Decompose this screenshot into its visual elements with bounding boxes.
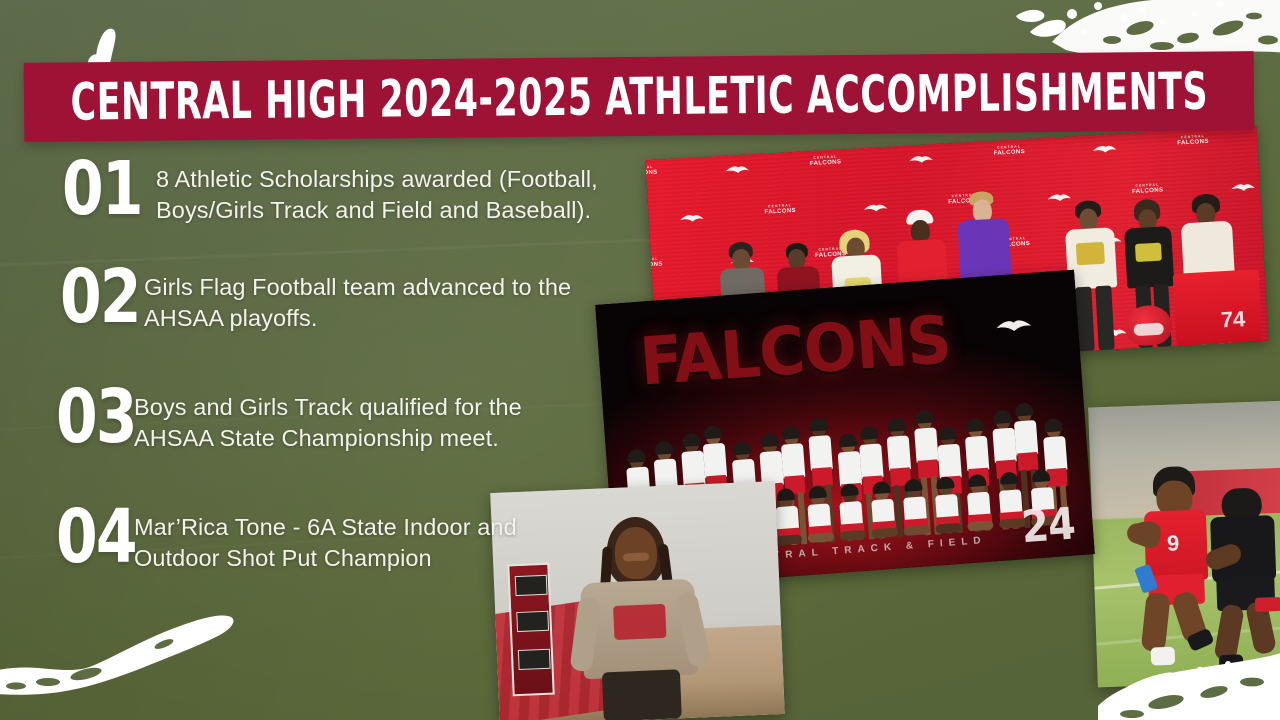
track-photo-year: 24 xyxy=(1020,499,1077,554)
team-member xyxy=(803,488,835,548)
list-item: 04 Mar’Rica Tone - 6A State Indoor and O… xyxy=(56,506,626,575)
page-title: CENTRAL HIGH 2024-2025 ATHLETIC ACCOMPLI… xyxy=(70,65,1208,127)
team-member xyxy=(835,486,867,546)
falcon-head-icon xyxy=(678,211,705,225)
backdrop-wordmark: CENTRALFALCONS xyxy=(764,204,796,217)
portrait-scoreboard xyxy=(507,563,554,697)
list-item: 03 Boys and Girls Track qualified for th… xyxy=(56,386,616,455)
falcon-head-icon xyxy=(1091,142,1118,156)
list-item-text: Mar’Rica Tone - 6A State Indoor and Outd… xyxy=(134,506,578,575)
jersey-number: 9 xyxy=(1167,530,1180,556)
backdrop-wordmark: CENTRALFALCONS xyxy=(645,257,663,270)
list-item-number: 03 xyxy=(56,386,142,450)
backdrop-wordmark: CENTRALFALCONS xyxy=(1132,183,1164,196)
backdrop-wordmark: CENTRALFALCONS xyxy=(645,166,657,179)
falcon-head-icon xyxy=(908,152,935,166)
title-banner: CENTRAL HIGH 2024-2025 ATHLETIC ACCOMPLI… xyxy=(24,51,1255,142)
list-item: 02 Girls Flag Football team advanced to … xyxy=(60,266,620,335)
list-item-number: 04 xyxy=(56,506,142,570)
falcon-head-icon xyxy=(862,201,889,215)
list-item-text: Boys and Girls Track qualified for the A… xyxy=(134,386,554,455)
backdrop-wordmark: CENTRALFALCONS xyxy=(993,145,1025,158)
backdrop-wordmark: CENTRALFALCONS xyxy=(810,155,842,168)
brush-stroke-bottom-left xyxy=(0,596,256,716)
falcon-head-icon xyxy=(1230,180,1257,194)
team-member xyxy=(899,481,931,541)
team-member xyxy=(931,479,963,539)
team-member xyxy=(867,483,899,543)
list-item-number: 02 xyxy=(60,266,146,330)
team-member xyxy=(963,476,995,536)
falcon-head-icon xyxy=(724,162,751,176)
slide-canvas: CENTRALFALCONSCENTRALFALCONSCENTRALFALCO… xyxy=(0,0,1280,720)
list-item-number: 01 xyxy=(62,158,148,222)
backdrop-wordmark: CENTRALFALCONS xyxy=(1177,135,1209,148)
list-item-text: 8 Athletic Scholarships awarded (Footbal… xyxy=(156,158,624,227)
list-item-text: Girls Flag Football team advanced to the… xyxy=(144,266,576,335)
falcon-logo-icon xyxy=(993,315,1034,338)
list-item: 01 8 Athletic Scholarships awarded (Foot… xyxy=(62,158,642,227)
photo-flag-football: 9 xyxy=(1088,401,1280,688)
